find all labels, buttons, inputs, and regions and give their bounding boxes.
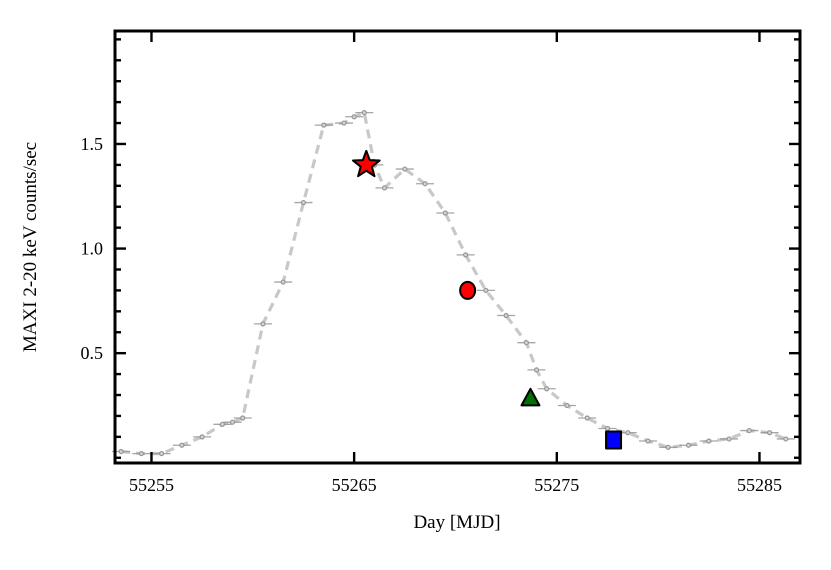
- data-point-marker: [200, 435, 204, 439]
- data-point-marker: [301, 201, 305, 205]
- data-point-marker: [139, 452, 143, 456]
- square-observation-marker: [606, 431, 621, 448]
- y-axis-title: MAXI 2-20 keV counts/sec: [20, 142, 41, 352]
- data-point-marker: [707, 439, 711, 443]
- data-point-marker: [565, 403, 569, 407]
- data-point-marker: [535, 368, 539, 372]
- data-point-marker: [362, 111, 366, 115]
- data-point-marker: [281, 280, 285, 284]
- circle-observation-marker: [460, 282, 475, 299]
- data-point-marker: [160, 452, 164, 456]
- x-tick-label: 55255: [129, 475, 174, 495]
- data-point-marker: [423, 182, 427, 186]
- data-point-marker: [464, 253, 468, 257]
- plot-background: [115, 31, 800, 463]
- data-point-marker: [626, 431, 630, 435]
- data-point-marker: [666, 445, 670, 449]
- data-point-marker: [383, 186, 387, 190]
- data-point-marker: [403, 167, 407, 171]
- data-point-marker: [119, 449, 123, 453]
- data-point-marker: [261, 322, 265, 326]
- data-point-marker: [220, 422, 224, 426]
- data-point-marker: [768, 431, 772, 435]
- data-point-marker: [784, 437, 788, 441]
- data-point-marker: [605, 426, 609, 430]
- y-tick-label: 1.5: [81, 134, 104, 154]
- data-point-marker: [484, 288, 488, 292]
- data-point-marker: [241, 416, 245, 420]
- data-point-marker: [646, 439, 650, 443]
- data-point-marker: [352, 115, 356, 119]
- plot-canvas: 552555526555275552850.51.01.5 Day [MJD] …: [0, 0, 831, 570]
- data-point-marker: [342, 121, 346, 125]
- y-tick-label: 0.5: [81, 343, 104, 363]
- data-point-marker: [443, 211, 447, 215]
- data-point-marker: [545, 387, 549, 391]
- data-point-marker: [524, 341, 528, 345]
- data-point-marker: [727, 437, 731, 441]
- data-point-marker: [747, 429, 751, 433]
- x-axis-title: Day [MJD]: [413, 512, 500, 533]
- data-point-marker: [504, 314, 508, 318]
- x-tick-label: 55265: [332, 475, 377, 495]
- data-point-marker: [585, 416, 589, 420]
- light-curve-figure: 552555526555275552850.51.01.5 Day [MJD] …: [0, 0, 831, 570]
- x-tick-label: 55285: [737, 475, 782, 495]
- y-tick-label: 1.0: [81, 239, 104, 259]
- data-point-marker: [231, 420, 235, 424]
- data-point-marker: [322, 123, 326, 127]
- x-tick-label: 55275: [534, 475, 579, 495]
- data-point-marker: [180, 443, 184, 447]
- data-point-marker: [687, 443, 691, 447]
